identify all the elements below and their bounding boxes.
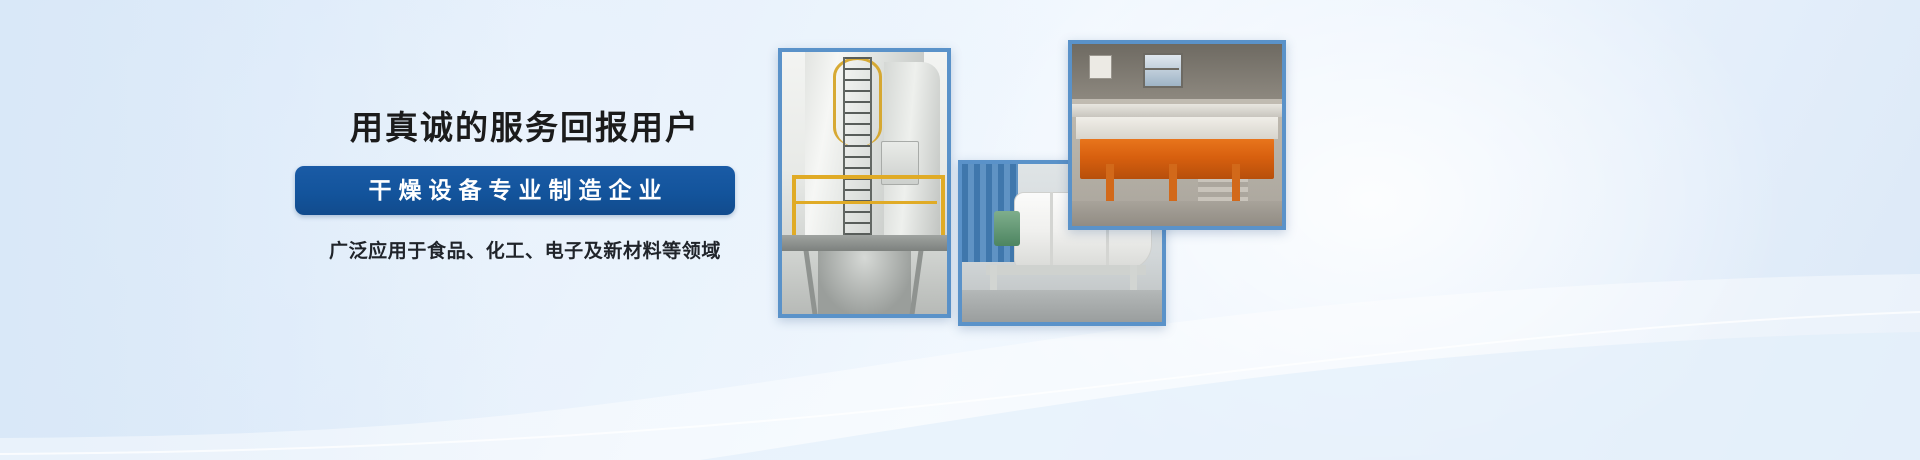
photo-spray-dryer-tower-image [782, 52, 947, 314]
hero-subtitle: 广泛应用于食品、化工、电子及新材料等领域 [295, 236, 755, 263]
photo-workshop-conveyor-image [1072, 44, 1282, 226]
tagline-pill: 干燥设备专业制造企业 [295, 166, 735, 215]
photo-workshop-conveyor [1068, 40, 1286, 230]
hero-banner: 用真诚的服务回报用户 干燥设备专业制造企业 广泛应用于食品、化工、电子及新材料等… [0, 0, 1920, 460]
page-title: 用真诚的服务回报用户 [295, 108, 755, 148]
hero-text-block: 用真诚的服务回报用户 干燥设备专业制造企业 广泛应用于食品、化工、电子及新材料等… [295, 108, 755, 263]
photo-spray-dryer-tower [778, 48, 951, 318]
